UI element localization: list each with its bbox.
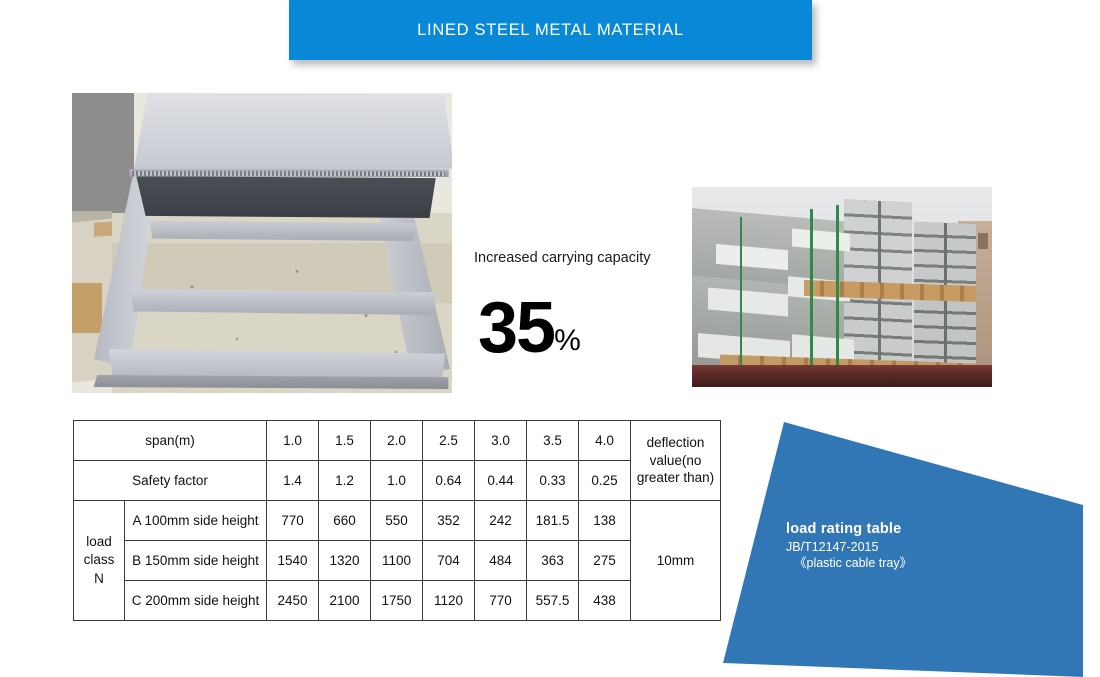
stacked-cable-trays-on-truck-photo	[692, 187, 992, 387]
cell-safety-3: 0.64	[423, 461, 475, 501]
table-row-class-c: C 200mm side height 2450 2100 1750 1120 …	[74, 581, 721, 621]
cell-class-b-4: 484	[475, 541, 527, 581]
cell-class-b-1: 1320	[319, 541, 371, 581]
truck-bed	[692, 365, 992, 387]
building-window	[978, 233, 988, 249]
banner-title: LINED STEEL METAL MATERIAL	[417, 21, 684, 40]
cell-class-a-name: A 100mm side height	[125, 501, 267, 541]
tray-interior-shadow	[130, 176, 442, 218]
tray-rung-1	[144, 221, 422, 241]
cell-span-3: 2.5	[423, 421, 475, 461]
capacity-number: 35	[478, 294, 554, 362]
callout-subject: 《plastic cable tray》	[786, 555, 912, 571]
cell-safety-4: 0.44	[475, 461, 527, 501]
load-class-line-2: class	[74, 551, 124, 569]
table-row-safety-factor: Safety factor 1.4 1.2 1.0 0.64 0.44 0.33…	[74, 461, 721, 501]
tray-bottom-lip	[90, 375, 452, 389]
cell-safety-6: 0.25	[579, 461, 631, 501]
deflection-line-1: deflection	[631, 434, 720, 452]
cell-safety-0: 1.4	[267, 461, 319, 501]
tray-rung-2	[124, 289, 442, 315]
cell-span-5: 3.5	[527, 421, 579, 461]
cell-class-a-3: 352	[423, 501, 475, 541]
table-row-class-b: B 150mm side height 1540 1320 1100 704 4…	[74, 541, 721, 581]
page-banner: LINED STEEL METAL MATERIAL	[289, 0, 812, 60]
cell-class-b-5: 363	[527, 541, 579, 581]
load-rating-callout-text: load rating table JB/T12147-2015 《plasti…	[786, 520, 912, 571]
cell-class-c-1: 2100	[319, 581, 371, 621]
load-class-line-1: load	[74, 533, 124, 551]
cell-class-a-4: 242	[475, 501, 527, 541]
capacity-figure: 35 %	[478, 294, 581, 362]
cell-class-c-4: 770	[475, 581, 527, 621]
green-strap-2	[810, 209, 813, 377]
capacity-percent-sign: %	[554, 326, 581, 362]
cell-class-c-5: 557.5	[527, 581, 579, 621]
pallet-plank-lower	[72, 283, 102, 333]
table-body: span(m) 1.0 1.5 2.0 2.5 3.0 3.5 4.0 defl…	[74, 421, 721, 621]
green-strap-1	[740, 217, 742, 377]
cell-span-1: 1.5	[319, 421, 371, 461]
cell-class-a-5: 181.5	[527, 501, 579, 541]
cell-deflection-value: 10mm	[631, 501, 721, 621]
cell-class-c-3: 1120	[423, 581, 475, 621]
cell-class-a-6: 138	[579, 501, 631, 541]
cell-span-6: 4.0	[579, 421, 631, 461]
cell-class-b-2: 1100	[371, 541, 423, 581]
cell-class-b-6: 275	[579, 541, 631, 581]
tray-cover-panel	[124, 93, 452, 179]
green-strap-3	[836, 205, 839, 377]
callout-title: load rating table	[786, 520, 912, 539]
floor-concrete	[72, 93, 134, 223]
cable-tray-with-cover-photo	[72, 93, 452, 393]
cell-safety-1: 1.2	[319, 461, 371, 501]
cell-safety-label: Safety factor	[74, 461, 267, 501]
cell-deflection-header: deflection value(no greater than)	[631, 421, 721, 501]
cell-class-b-3: 704	[423, 541, 475, 581]
load-rating-table: span(m) 1.0 1.5 2.0 2.5 3.0 3.5 4.0 defl…	[73, 420, 721, 621]
cell-class-c-6: 438	[579, 581, 631, 621]
cell-class-c-0: 2450	[267, 581, 319, 621]
cell-span-2: 2.0	[371, 421, 423, 461]
tray-cover-ribs	[128, 171, 448, 176]
cell-class-b-name: B 150mm side height	[125, 541, 267, 581]
cell-load-class-label: load class N	[74, 501, 125, 621]
cell-safety-2: 1.0	[371, 461, 423, 501]
table-row-span: span(m) 1.0 1.5 2.0 2.5 3.0 3.5 4.0 defl…	[74, 421, 721, 461]
cell-class-c-name: C 200mm side height	[125, 581, 267, 621]
deflection-line-3: greater than)	[631, 469, 720, 487]
callout-standard: JB/T12147-2015	[786, 539, 912, 555]
cell-class-a-0: 770	[267, 501, 319, 541]
cell-span-0: 1.0	[267, 421, 319, 461]
cell-class-b-0: 1540	[267, 541, 319, 581]
deflection-line-2: value(no	[631, 452, 720, 470]
cell-span-4: 3.0	[475, 421, 527, 461]
cell-class-a-2: 550	[371, 501, 423, 541]
cell-class-c-2: 1750	[371, 581, 423, 621]
cell-class-a-1: 660	[319, 501, 371, 541]
load-class-line-3: N	[74, 570, 124, 588]
cell-span-label: span(m)	[74, 421, 267, 461]
cell-safety-5: 0.33	[527, 461, 579, 501]
table-row-class-a: load class N A 100mm side height 770 660…	[74, 501, 721, 541]
capacity-label: Increased carrying capacity	[474, 250, 651, 266]
